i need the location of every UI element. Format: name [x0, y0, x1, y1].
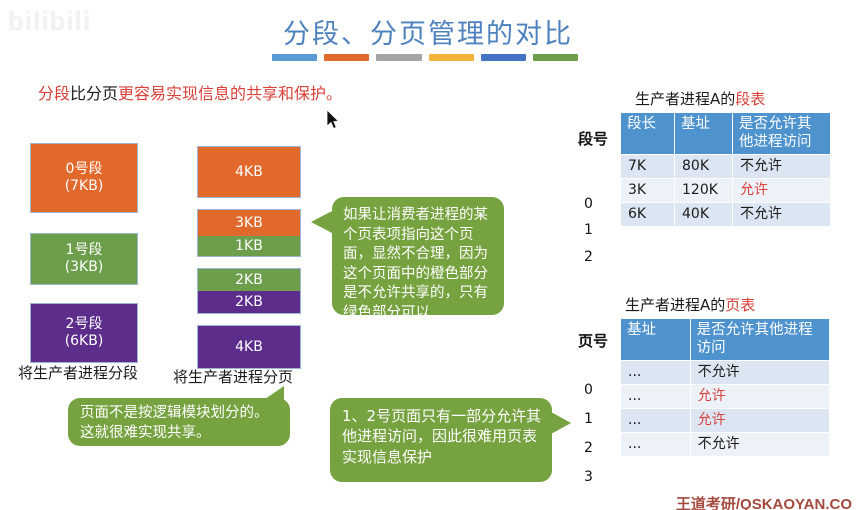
table-row: ... 允许	[621, 408, 830, 432]
page-index-header: 页号	[578, 330, 608, 351]
title-bar-2	[376, 54, 421, 61]
title-bar-5	[533, 54, 578, 61]
segment-index-2: 2	[584, 249, 593, 265]
segment-row-0-allow: 不允许	[733, 155, 831, 179]
page-table: 基址 是否允许其他进程访问 ... 不允许 ... 允许 ... 允许 ... …	[620, 318, 830, 457]
page-table-title-prefix: 生产者进程A的	[625, 296, 725, 314]
callout-sharing-note: 如果让消费者进程的某个页表项指向这个页面，显然不合理，因为这个页面中的橙色部分是…	[332, 197, 504, 315]
segment-col-base: 基址	[675, 113, 733, 155]
callout-protection-text: 1、2号页面只有一部分允许其他进程访问，因此很难用页表实现信息保护	[342, 407, 541, 466]
page-row-3-allow: 不允许	[690, 432, 829, 456]
subtitle-part-3: 更容易实现信息的共享和保护。	[118, 84, 342, 103]
table-row: 7K 80K 不允许	[621, 155, 831, 179]
callout-logic-text: 页面不是按逻辑模块划分的。这就很难实现共享。	[80, 405, 269, 441]
segment-row-2-length: 6K	[621, 202, 675, 226]
segment-block-1: 1号段 (3KB)	[30, 233, 138, 285]
page-index-0: 0	[584, 382, 593, 398]
title-bar-3	[429, 54, 474, 61]
table-row: ... 允许	[621, 385, 830, 409]
segment-row-2-base: 40K	[675, 202, 733, 226]
page-block-2-part-1: 2KB	[198, 291, 300, 313]
subtitle-line: 分段比分页更容易实现信息的共享和保护。	[38, 80, 342, 104]
segment-table-header-row: 段长 基址 是否允许其他进程访问	[621, 113, 831, 155]
page-row-0-base: ...	[621, 361, 691, 385]
segment-block-2-size: (6KB)	[65, 333, 104, 350]
page-block-2: 2KB 2KB	[197, 268, 301, 314]
segment-row-1-base: 120K	[675, 179, 733, 203]
segment-row-1-length: 3K	[621, 179, 675, 203]
page-block-0: 4KB	[197, 146, 301, 198]
segment-table-title-highlight: 段表	[735, 90, 765, 108]
segment-row-0-length: 7K	[621, 155, 675, 179]
segment-index-header: 段号	[578, 128, 608, 149]
page-index-1: 1	[584, 411, 593, 427]
table-row: ... 不允许	[621, 361, 830, 385]
segment-diagram-caption: 将生产者进程分段	[18, 362, 138, 383]
segment-block-2: 2号段 (6KB)	[30, 303, 138, 363]
page-table-header-row: 基址 是否允许其他进程访问	[621, 319, 830, 361]
title-bar-0	[272, 54, 317, 61]
page-row-0-allow: 不允许	[690, 361, 829, 385]
segment-block-2-name: 2号段	[66, 316, 103, 333]
segment-col-allow: 是否允许其他进程访问	[733, 113, 831, 155]
page-table-title: 生产者进程A的页表	[625, 294, 755, 315]
course-watermark: 王道考研/QSKAOYAN.CO	[676, 493, 852, 510]
slide-canvas: bilibili 分段、分页管理的对比 分段比分页更容易实现信息的共享和保护。 …	[0, 0, 856, 510]
segment-table: 段长 基址 是否允许其他进程访问 7K 80K 不允许 3K 120K 允许 6…	[620, 112, 831, 227]
page-index-3: 3	[584, 469, 593, 485]
page-index-2: 2	[584, 440, 593, 456]
callout-sharing-tail	[311, 211, 332, 233]
page-block-1-part-0: 3KB	[198, 210, 300, 236]
subtitle-part-2: 比分页	[70, 84, 118, 103]
title-bar-1	[324, 54, 369, 61]
callout-logic-tail	[265, 386, 284, 399]
segment-block-0: 0号段 (7KB)	[30, 143, 138, 213]
subtitle-part-1: 分段	[38, 84, 70, 103]
page-block-3: 4KB	[197, 325, 301, 369]
page-diagram-caption: 将生产者进程分页	[173, 366, 293, 387]
page-col-base: 基址	[621, 319, 691, 361]
page-row-1-allow: 允许	[690, 385, 829, 409]
page-col-allow: 是否允许其他进程访问	[690, 319, 829, 361]
title-bar-4	[481, 54, 526, 61]
page-title: 分段、分页管理的对比	[0, 12, 856, 51]
segment-blocks-column: 0号段 (7KB) 1号段 (3KB) 2号段 (6KB)	[30, 143, 140, 363]
segment-block-0-name: 0号段	[66, 161, 103, 178]
page-block-3-part-0: 4KB	[198, 326, 300, 368]
segment-block-1-name: 1号段	[66, 242, 103, 259]
segment-col-length: 段长	[621, 113, 675, 155]
page-block-2-part-0: 2KB	[198, 269, 300, 291]
segment-table-title: 生产者进程A的段表	[635, 88, 765, 109]
callout-protection-note: 1、2号页面只有一部分允许其他进程访问，因此很难用页表实现信息保护	[330, 398, 552, 482]
callout-sharing-text: 如果让消费者进程的某个页表项指向这个页面，显然不合理，因为这个页面中的橙色部分是…	[343, 207, 488, 321]
segment-table-title-prefix: 生产者进程A的	[635, 90, 735, 108]
mouse-cursor	[327, 110, 341, 130]
callout-protection-tail	[551, 412, 571, 434]
page-row-1-base: ...	[621, 385, 691, 409]
page-row-2-allow: 允许	[690, 408, 829, 432]
callout-logic-note: 页面不是按逻辑模块划分的。这就很难实现共享。	[68, 398, 290, 446]
segment-index-1: 1	[584, 222, 593, 238]
segment-row-2-allow: 不允许	[733, 202, 831, 226]
page-block-0-part-0: 4KB	[198, 147, 300, 197]
title-underline-bars	[272, 54, 578, 62]
table-row: 3K 120K 允许	[621, 179, 831, 203]
page-row-3-base: ...	[621, 432, 691, 456]
table-row: ... 不允许	[621, 432, 830, 456]
page-table-title-highlight: 页表	[725, 296, 755, 314]
segment-block-0-size: (7KB)	[65, 178, 104, 195]
segment-row-0-base: 80K	[675, 155, 733, 179]
page-blocks-column: 4KB 3KB 1KB 2KB 2KB 4KB	[197, 146, 301, 380]
page-block-1-part-1: 1KB	[198, 236, 300, 256]
table-row: 6K 40K 不允许	[621, 202, 831, 226]
page-block-1: 3KB 1KB	[197, 209, 301, 257]
segment-index-0: 0	[584, 196, 593, 212]
segment-row-1-allow: 允许	[733, 179, 831, 203]
page-row-2-base: ...	[621, 408, 691, 432]
segment-block-1-size: (3KB)	[65, 259, 104, 276]
